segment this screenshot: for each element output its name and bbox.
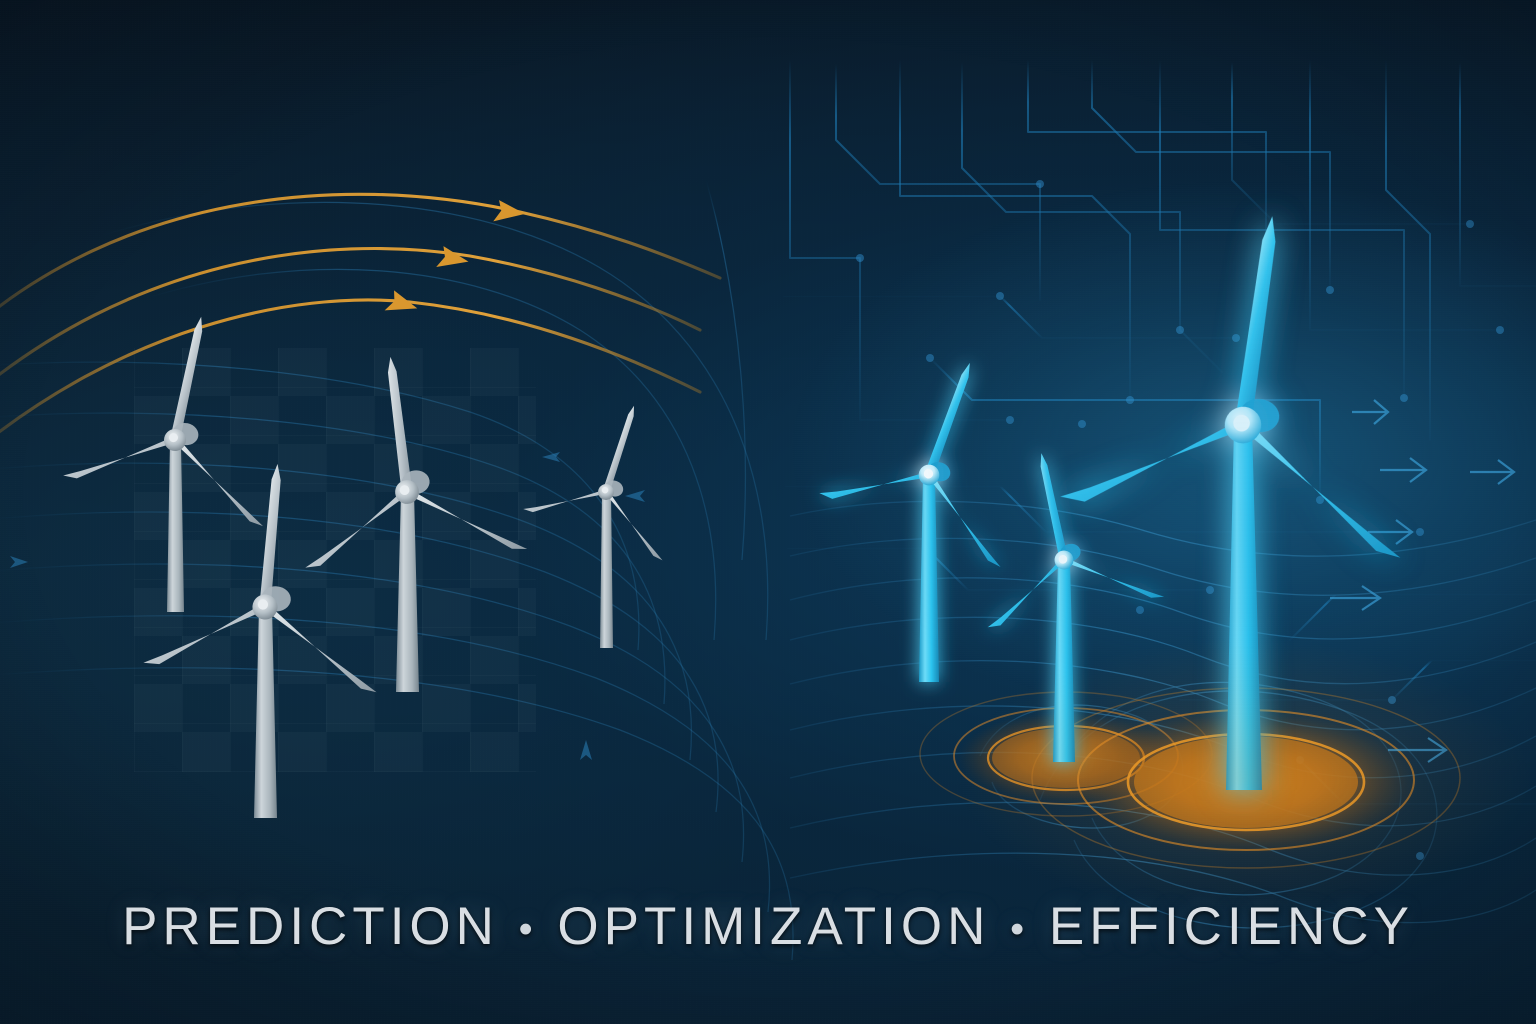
baseline-grey-turbines	[0, 0, 1536, 1024]
amber-arrowhead	[385, 200, 527, 321]
amber-arrow-3	[0, 300, 700, 455]
amber-arrow-2	[0, 248, 700, 398]
wake-flow-contours-left	[0, 0, 1536, 1024]
caption-word-prediction: PREDICTION	[122, 896, 499, 957]
caption-word-optimization: OPTIMIZATION	[557, 896, 990, 957]
film-grain-overlay	[0, 0, 1536, 1024]
cyan-glow-wash	[0, 0, 1536, 1024]
panel-divider-line	[0, 0, 1536, 1024]
energy-ring-turbine-2	[920, 692, 1212, 816]
cyan-turbine-1	[817, 330, 1063, 682]
grey-turbine-4	[521, 383, 705, 648]
illustration-canvas: PREDICTION • OPTIMIZATION • EFFICIENCY	[0, 0, 1536, 1024]
cyan-turbine-2	[955, 434, 1164, 762]
flow-arrowhead	[10, 452, 645, 760]
flow-arrow-right	[1330, 400, 1514, 762]
grey-turbine-3	[281, 343, 527, 692]
cyan-turbine-3	[1058, 192, 1445, 790]
circuit-node-dot	[856, 180, 1504, 860]
optimized-cyan-turbines	[0, 0, 1536, 1024]
circuit-trace-background	[0, 0, 1536, 1024]
caption-word-efficiency: EFFICIENCY	[1049, 896, 1414, 957]
amber-arrow-1	[0, 194, 720, 330]
planning-grid-lines	[134, 348, 536, 772]
planning-grid-checkerboard	[134, 348, 536, 772]
grey-turbine-1	[62, 296, 303, 612]
wake-flow-and-energy-rings-right	[0, 0, 1536, 1024]
vignette-overlay	[0, 0, 1536, 1024]
energy-ring-turbine-3	[1032, 688, 1460, 868]
amber-prediction-arrows	[0, 0, 1536, 1024]
grey-turbine-2	[143, 454, 396, 818]
caption-bar: PREDICTION • OPTIMIZATION • EFFICIENCY	[0, 896, 1536, 957]
caption-separator-1: •	[519, 908, 538, 952]
caption-separator-2: •	[1010, 908, 1029, 952]
